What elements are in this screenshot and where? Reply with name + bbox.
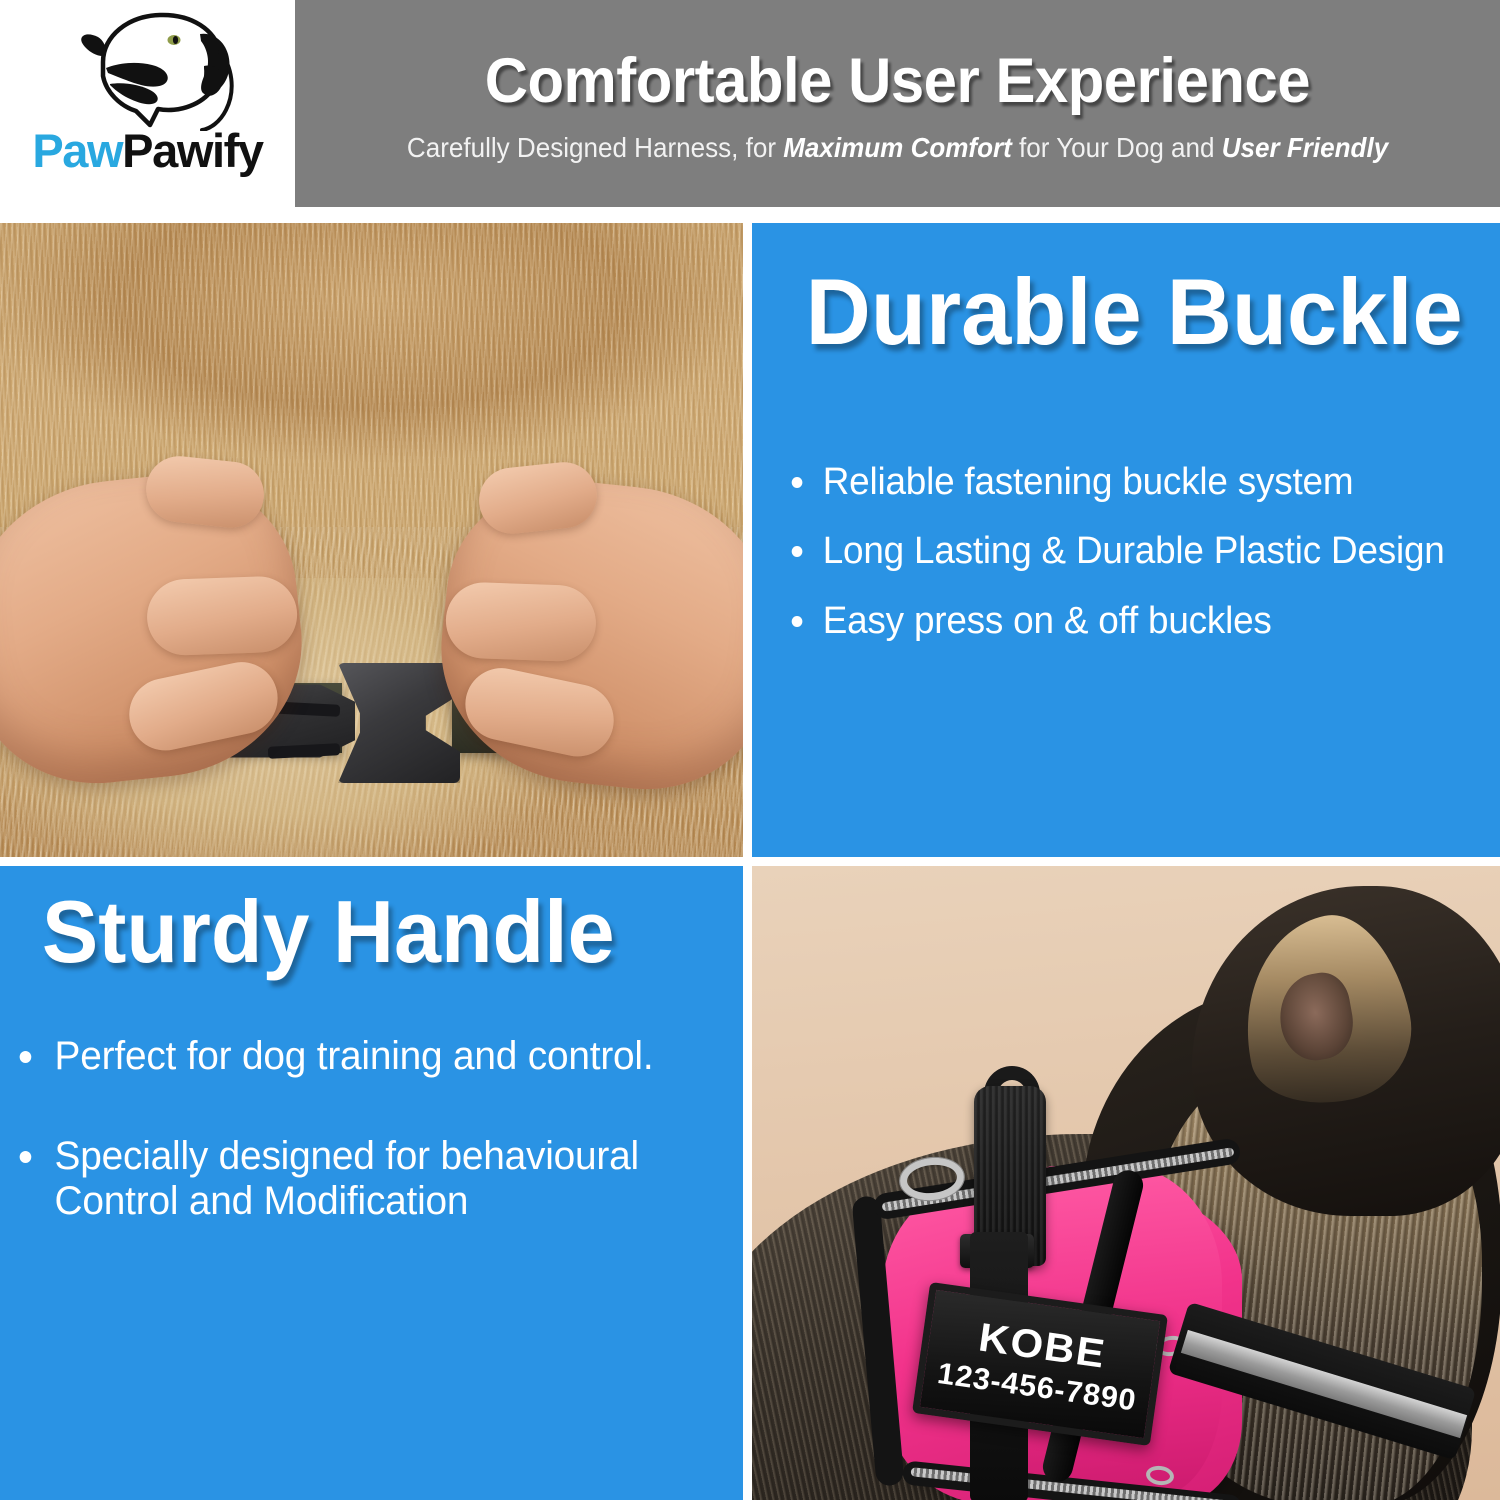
dog-harness-photo: KOBE 123-456-7890: [752, 866, 1500, 1500]
bullet-item: Reliable fastening buckle system: [782, 461, 1451, 504]
infographic-page: PawPawify Comfortable User Experience Ca…: [0, 0, 1500, 1500]
header-banner: Comfortable User Experience Carefully De…: [295, 0, 1500, 207]
sturdy-handle-panel: Sturdy Handle Perfect for dog training a…: [0, 866, 743, 1500]
header-title: Comfortable User Experience: [485, 49, 1310, 113]
dog-head-logo-icon: [40, 6, 255, 131]
buckle-photo-panel: [0, 223, 743, 857]
brand-logo: PawPawify: [0, 0, 295, 207]
bullet-text: Perfect for dog training and control.: [55, 1034, 654, 1078]
finger: [445, 581, 598, 662]
bullet-dot-icon: [792, 616, 803, 627]
header-subtitle-part2: for Your Dog and: [1012, 132, 1222, 163]
bullet-dot-icon: [792, 477, 803, 488]
brand-wordmark-part2: Pawify: [122, 124, 263, 177]
header-subtitle-emphasis-1: Maximum Comfort: [783, 132, 1012, 163]
bullet-item: Easy press on & off buckles: [782, 600, 1451, 643]
finger: [146, 575, 299, 656]
bullet-item: Long Lasting & Durable Plastic Design: [782, 530, 1451, 573]
durable-buckle-bullet-list: Reliable fastening buckle system Long La…: [782, 461, 1472, 669]
bullet-dot-icon: [792, 546, 803, 557]
bullet-text: Specially designed for behavioural Contr…: [55, 1134, 639, 1224]
header-subtitle: Carefully Designed Harness, for Maximum …: [407, 132, 1388, 164]
sturdy-handle-title: Sturdy Handle: [42, 888, 615, 976]
bullet-dot-icon: [20, 1151, 32, 1163]
bullet-text: Easy press on & off buckles: [823, 600, 1272, 642]
header-subtitle-part1: Carefully Designed Harness, for: [407, 132, 783, 163]
durable-buckle-title: Durable Buckle: [806, 265, 1463, 359]
durable-buckle-panel: Durable Buckle Reliable fastening buckle…: [752, 223, 1500, 857]
brand-wordmark-part1: Paw: [32, 124, 122, 177]
header: PawPawify Comfortable User Experience Ca…: [0, 0, 1500, 210]
buckle-photo: [0, 223, 743, 857]
sturdy-handle-bullet-list: Perfect for dog training and control. Sp…: [8, 1034, 718, 1279]
bullet-text: Long Lasting & Durable Plastic Design: [823, 530, 1445, 572]
bullet-dot-icon: [20, 1051, 32, 1063]
bullet-text: Reliable fastening buckle system: [823, 461, 1354, 503]
bullet-item: Perfect for dog training and control.: [8, 1034, 697, 1080]
header-subtitle-emphasis-2: User Friendly: [1222, 132, 1388, 163]
brand-wordmark: PawPawify: [32, 127, 262, 174]
dog-harness-photo-panel: KOBE 123-456-7890: [752, 866, 1500, 1500]
bullet-item: Specially designed for behavioural Contr…: [8, 1134, 697, 1225]
